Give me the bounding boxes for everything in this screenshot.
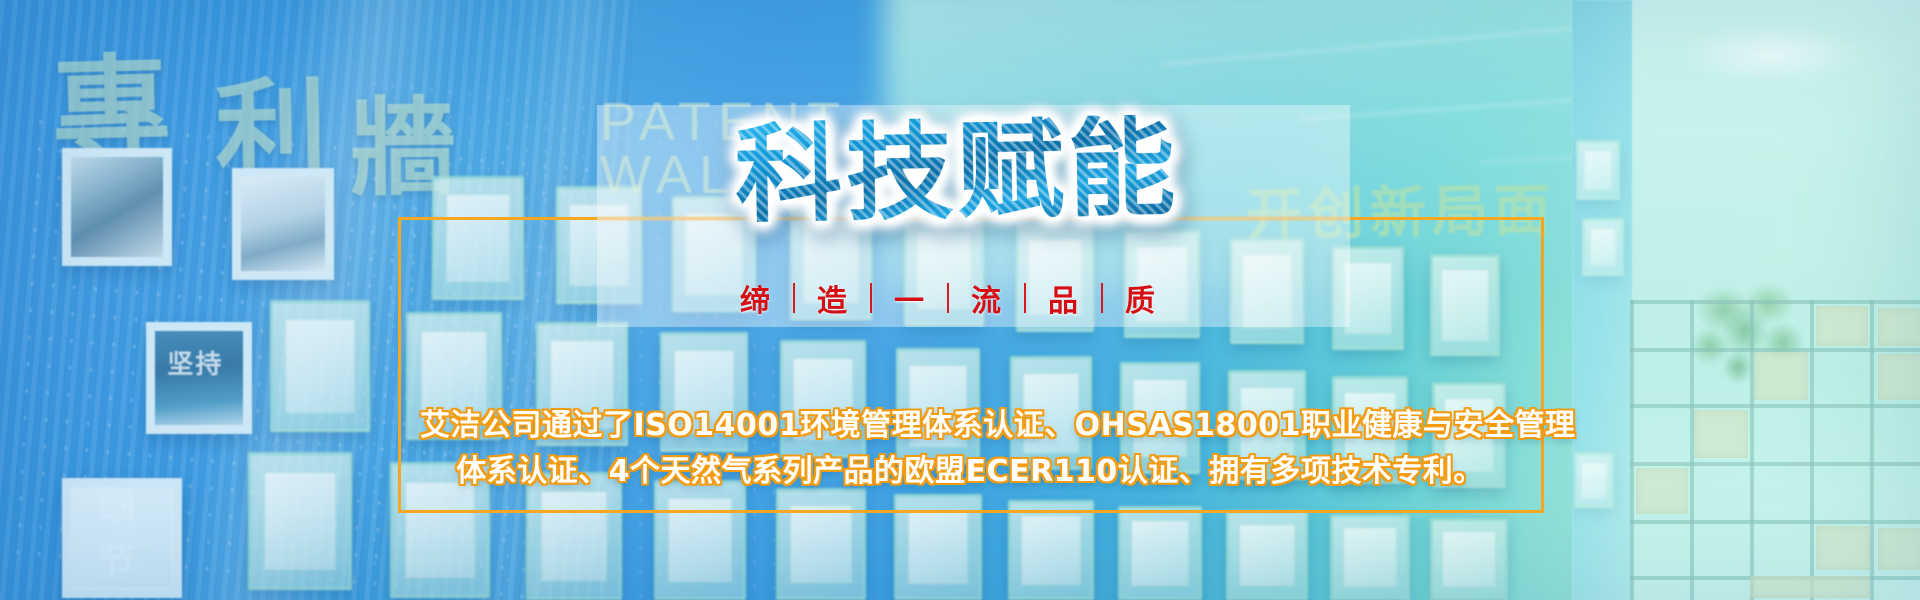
headline-title: 科技赋能 (734, 114, 1180, 229)
body-paragraph: 艾洁公司通过了ISO14001环境管理体系认证、OHSAS18001职业健康与安… (420, 403, 1520, 494)
body-line-2: 体系认证、4个天然气系列产品的欧盟ECER110认证、拥有多项技术专利。 (420, 449, 1520, 495)
slogan-separator (1101, 283, 1103, 313)
body-line-1: 艾洁公司通过了ISO14001环境管理体系认证、OHSAS18001职业健康与安… (420, 403, 1520, 449)
slogan-word-6: 质 (1103, 276, 1178, 320)
slogan-row: 缔 造 一 流 品 质 (718, 276, 1178, 320)
slogan-word-2: 造 (795, 276, 870, 320)
slogan-word-5: 品 (1026, 276, 1101, 320)
slogan-separator (793, 283, 795, 313)
slogan-word-1: 缔 (718, 276, 793, 320)
slogan-word-3: 一 (872, 276, 947, 320)
slogan-separator (1024, 283, 1026, 313)
slogan-word-4: 流 (949, 276, 1024, 320)
slogan-separator (947, 283, 949, 313)
slogan-separator (870, 283, 872, 313)
promo-banner: 專 利 牆 开创新局面 (0, 0, 1920, 600)
